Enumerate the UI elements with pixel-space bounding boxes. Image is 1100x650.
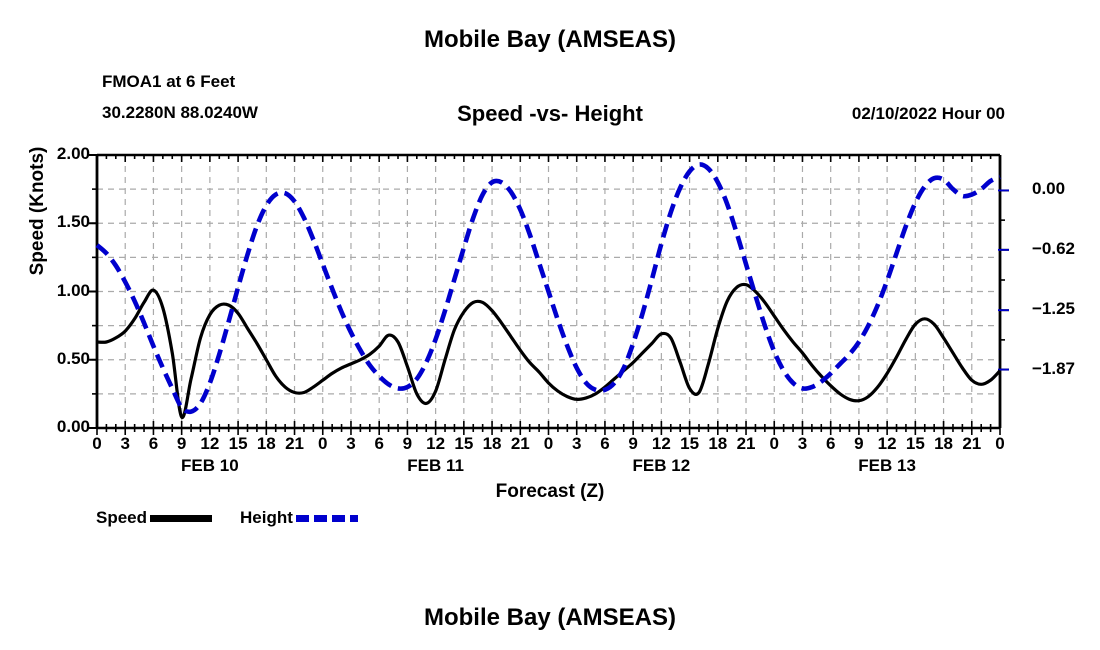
x-tick: 0 bbox=[980, 434, 1020, 454]
legend-label: Height bbox=[240, 508, 293, 528]
y-tick-left: 2.00 bbox=[10, 144, 90, 164]
y-tick-left: 0.50 bbox=[10, 349, 90, 369]
y-tick-right: 0.00 bbox=[1032, 179, 1100, 199]
x-day-label: FEB 13 bbox=[827, 456, 947, 476]
legend-label: Speed bbox=[96, 508, 147, 528]
y-tick-left: 1.00 bbox=[10, 281, 90, 301]
legend-item-speed[interactable]: Speed bbox=[96, 508, 240, 528]
plot-area bbox=[0, 0, 1100, 650]
chart-canvas: Mobile Bay (AMSEAS) FMOA1 at 6 Feet 30.2… bbox=[0, 0, 1100, 650]
page-title-bottom: Mobile Bay (AMSEAS) bbox=[0, 604, 1100, 632]
x-day-label: FEB 12 bbox=[601, 456, 721, 476]
y-tick-right: −0.62 bbox=[1032, 239, 1100, 259]
y-tick-right: −1.25 bbox=[1032, 299, 1100, 319]
x-day-label: FEB 10 bbox=[150, 456, 270, 476]
chart-legend: SpeedHeight bbox=[96, 508, 386, 528]
y-tick-left: 1.50 bbox=[10, 212, 90, 232]
legend-item-height[interactable]: Height bbox=[240, 508, 386, 528]
legend-swatch-solid bbox=[150, 515, 212, 522]
x-day-label: FEB 11 bbox=[376, 456, 496, 476]
legend-swatch-dashed bbox=[296, 515, 358, 522]
y-tick-right: −1.87 bbox=[1032, 359, 1100, 379]
